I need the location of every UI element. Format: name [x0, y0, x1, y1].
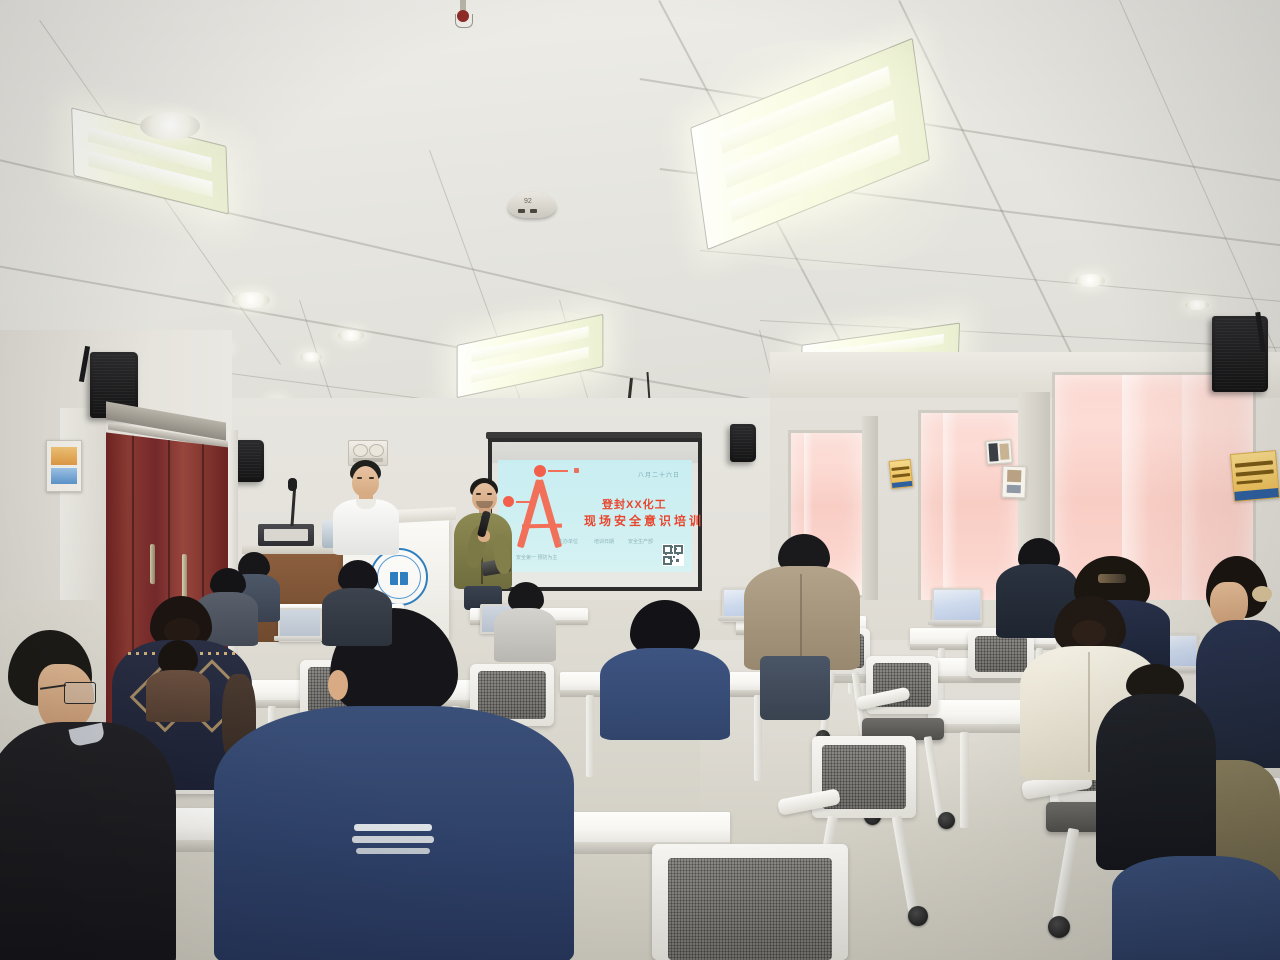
- downlight: [1185, 300, 1209, 310]
- projection-screen-border: 登封XX化工 现场安全意识培训 八月二十六日 主办单位 培训日期 安全生产部 安…: [488, 438, 702, 591]
- ceiling-light-panel: [690, 38, 930, 250]
- audience-member-tan-jacket: [744, 534, 860, 666]
- presentation-slide: 登封XX化工 现场安全意识培训 八月二十六日 主办单位 培训日期 安全生产部 安…: [498, 460, 692, 572]
- audience-torso: [744, 566, 860, 670]
- audience-torso: [1112, 856, 1280, 960]
- chair-caster: [908, 906, 928, 926]
- slide-dash: [574, 468, 579, 473]
- downlight: [140, 112, 200, 140]
- slide-meta-center: 培训日期: [594, 538, 614, 545]
- presenter-eye: [357, 477, 362, 479]
- smoke-detector-label: 92: [524, 198, 532, 205]
- projection-screen-surface: 登封XX化工 现场安全意识培训 八月二十六日 主办单位 培训日期 安全生产部 安…: [492, 442, 698, 587]
- slide-rule: [548, 470, 568, 472]
- slide-title: 登封XX化工: [602, 496, 667, 512]
- door-handle[interactable]: [150, 544, 155, 585]
- speaker-eye: [476, 493, 481, 495]
- audience-hair: [158, 640, 198, 674]
- training-room-photo: 92: [0, 0, 1280, 960]
- laptop-base: [928, 620, 982, 625]
- slide-rule: [516, 501, 532, 503]
- audience-torso: [600, 648, 730, 740]
- poster-left-wall: [46, 440, 82, 492]
- hair-bun: [1072, 620, 1106, 646]
- smoke-detector: 92: [508, 192, 556, 218]
- audience-member-dark-suit-right: [1096, 664, 1216, 864]
- audience-torso: [146, 670, 210, 722]
- hair-clip: [1098, 574, 1126, 583]
- slide-logo-text: 八月二十六日: [638, 470, 680, 479]
- downlight: [1075, 274, 1105, 287]
- audience-torso: [1096, 694, 1216, 870]
- audience-member: [146, 640, 210, 714]
- audience-torso: [214, 706, 574, 960]
- speaker-eye: [487, 493, 492, 495]
- audience-torso: [494, 608, 556, 662]
- ceiling-light-panel: [457, 314, 604, 398]
- audience-member: [600, 600, 730, 730]
- jacket-reflective-stripe: [356, 848, 430, 854]
- chair-caster: [1048, 916, 1070, 938]
- audience-member: [322, 560, 392, 640]
- audience-torso: [322, 588, 392, 646]
- jacket-reflective-stripe: [352, 836, 434, 843]
- eyeglasses: [64, 682, 96, 704]
- jacket-seam: [800, 574, 802, 664]
- desk-leg: [960, 732, 969, 828]
- poster-right-wall-yellow: [1230, 450, 1280, 502]
- door-handle[interactable]: [182, 554, 187, 599]
- downlight: [338, 330, 364, 341]
- downlight: [300, 352, 322, 362]
- slide-qr-code: [662, 544, 684, 566]
- window-mullion: [862, 416, 878, 612]
- wall-speaker: [236, 440, 264, 482]
- audience-legs: [760, 656, 830, 720]
- presenter: [330, 460, 402, 540]
- downlight: [232, 292, 270, 308]
- audio-mixer: [258, 524, 314, 546]
- jacket-seam: [1088, 652, 1090, 772]
- wall-speaker: [730, 424, 756, 462]
- audience-torso: [0, 722, 176, 960]
- audience-ear: [328, 670, 348, 700]
- poster-center-wall-white: [985, 439, 1013, 465]
- presenter-eye: [369, 477, 374, 479]
- slide-meta-right: 安全生产部: [628, 538, 653, 545]
- slide-footer: 安全第一 预防为主: [516, 554, 557, 561]
- sprinkler-head: [448, 0, 478, 34]
- slide-dot: [534, 465, 546, 477]
- grey-mesh-chair[interactable]: [652, 844, 848, 960]
- microphone-capsule: [288, 478, 297, 491]
- audience-member-blue-bottom-right: [1112, 856, 1280, 960]
- jacket-reflective-stripe: [354, 824, 432, 831]
- slide-subtitle: 现场安全意识培训: [584, 512, 704, 529]
- audience-member: [494, 582, 556, 654]
- chair-caster: [938, 812, 955, 829]
- hair-tie: [1252, 586, 1272, 602]
- poster-center-wall-small: [1001, 466, 1026, 499]
- slide-meta-left: 主办单位: [558, 538, 578, 545]
- desk-leg: [586, 695, 594, 777]
- poster-window-wall-yellow: [889, 459, 914, 489]
